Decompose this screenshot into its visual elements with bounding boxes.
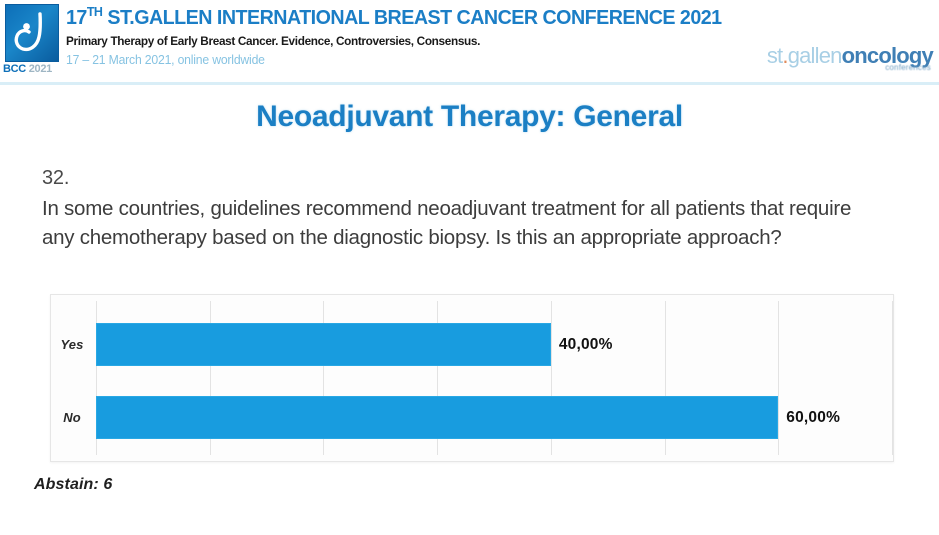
st-gallen-oncology-logo: st.gallenoncology conferences — [753, 44, 933, 78]
conference-title-ordinal: TH — [87, 4, 103, 19]
sponsor-logo-gallen: gallen — [788, 43, 842, 68]
abstain-count: Abstain: 6 — [34, 476, 112, 494]
conference-title-rest: ST.GALLEN INTERNATIONAL BREAST CANCER CO… — [102, 6, 721, 29]
bcc-logo-caption: BCC 2021 — [3, 62, 61, 76]
conference-subtitle: Primary Therapy of Early Breast Cancer. … — [66, 33, 693, 50]
poll-results-chart: Yes40,00%No60,00% — [50, 294, 894, 462]
conference-header: BCC 2021 17TH ST.GALLEN INTERNATIONAL BR… — [0, 0, 939, 85]
sponsor-logo-st: st — [767, 43, 783, 68]
chart-bar-value-label: 60,00% — [786, 409, 840, 427]
bcc-drop-logo-icon — [5, 4, 59, 62]
chart-bar-rows: Yes40,00%No60,00% — [96, 301, 892, 455]
question-text: In some countries, guidelines recommend … — [42, 195, 882, 252]
chart-bar-row: Yes40,00% — [96, 323, 892, 366]
header-text-block: 17TH ST.GALLEN INTERNATIONAL BREAST CANC… — [66, 6, 726, 69]
question-number: 32. — [42, 167, 69, 190]
conference-title-number: 17 — [66, 6, 87, 29]
chart-category-label: No — [51, 410, 93, 425]
chart-plot-area: Yes40,00%No60,00% — [96, 301, 892, 455]
page-title: Neoadjuvant Therapy: General — [0, 100, 939, 134]
bcc-logo-caption-bcc: BCC — [3, 63, 26, 75]
chart-bar — [96, 323, 551, 366]
chart-bar-row: No60,00% — [96, 396, 892, 439]
conference-title: 17TH ST.GALLEN INTERNATIONAL BREAST CANC… — [66, 6, 700, 30]
chart-bar — [96, 396, 778, 439]
chart-category-label: Yes — [51, 337, 93, 352]
chart-gridline — [892, 301, 893, 455]
chart-bar-value-label: 40,00% — [559, 336, 613, 354]
sponsor-logo-conferences: conferences — [885, 63, 931, 72]
conference-dates: 17 – 21 March 2021, online worldwide — [66, 52, 706, 69]
bcc-logo-caption-year: 2021 — [29, 63, 52, 75]
header-inner: BCC 2021 17TH ST.GALLEN INTERNATIONAL BR… — [0, 0, 939, 79]
bcc-logo-block: BCC 2021 — [3, 4, 61, 78]
